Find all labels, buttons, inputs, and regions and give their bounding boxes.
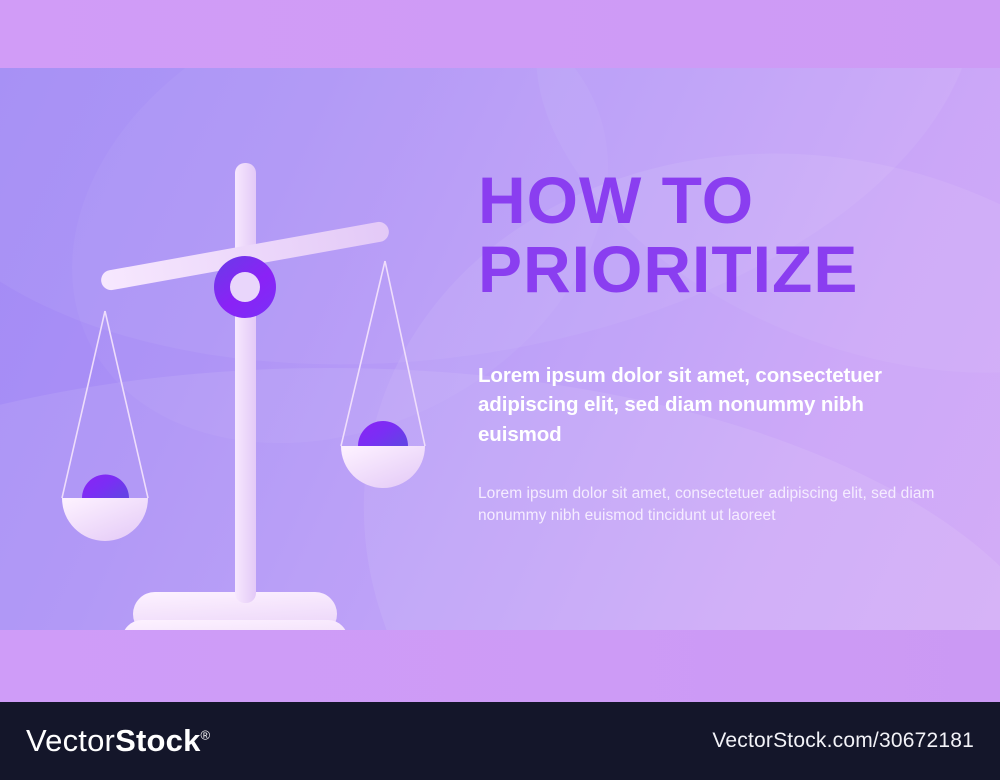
registered-trademark-icon: ® (201, 728, 211, 743)
weight-left (82, 475, 129, 499)
artwork-area: HOW TO PRIORITIZE Lorem ipsum dolor sit … (0, 68, 1000, 630)
body-text: Lorem ipsum dolor sit amet, consectetuer… (478, 449, 938, 527)
weight-right (358, 421, 408, 446)
watermark-url[interactable]: VectorStock.com/30672181 (712, 729, 974, 753)
scale-pan-right (341, 421, 425, 488)
vectorstock-logo[interactable]: VectorStock® (26, 723, 210, 759)
scale-column (235, 163, 256, 603)
logo-word-stock: Stock (115, 723, 200, 758)
watermark-footer: VectorStock® VectorStock.com/30672181 (0, 702, 1000, 780)
scale-pivot (214, 256, 276, 318)
copy-block: HOW TO PRIORITIZE Lorem ipsum dolor sit … (478, 168, 938, 527)
subtitle-text: Lorem ipsum dolor sit amet, consectetuer… (478, 301, 938, 448)
scale-pan-left (62, 475, 148, 542)
scale-base (122, 592, 348, 630)
bottom-color-band (0, 630, 1000, 702)
headline-line-2: PRIORITIZE (478, 237, 938, 302)
headline-line-1: HOW TO (478, 163, 754, 237)
poster-canvas: HOW TO PRIORITIZE Lorem ipsum dolor sit … (0, 0, 1000, 780)
page-title: HOW TO PRIORITIZE (478, 168, 938, 301)
top-color-band (0, 0, 1000, 68)
logo-word-vector: Vector (26, 723, 115, 758)
balance-scale-illustration (0, 68, 470, 630)
